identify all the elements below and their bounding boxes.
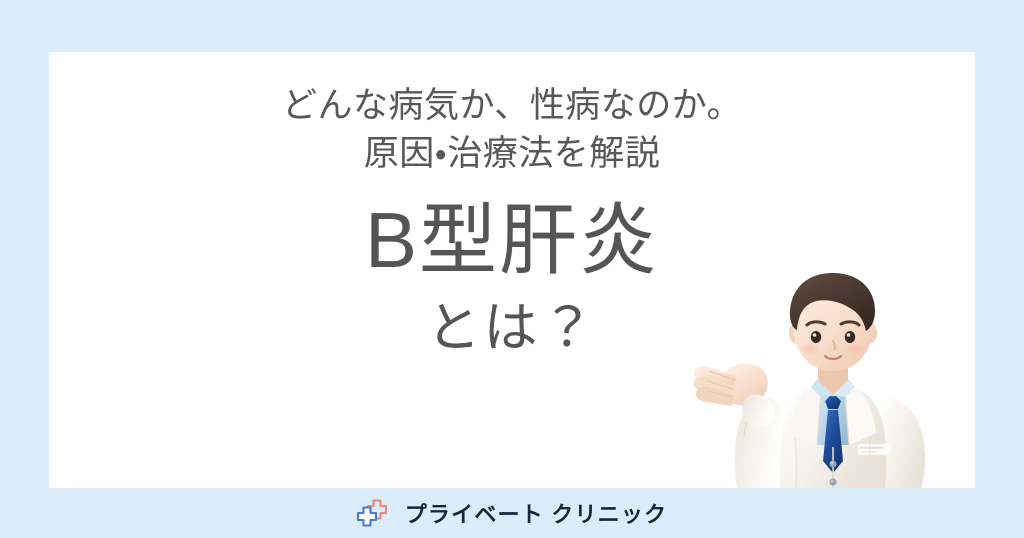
hero-subtitle-line-1: どんな病気か、性病なのか。 bbox=[49, 82, 975, 130]
hero-title-suffix: とは？ bbox=[49, 301, 975, 355]
hero-text-block: どんな病気か、性病なのか。 原因・治療法を解説 B型肝炎 とは？ bbox=[49, 52, 975, 355]
hero-subtitle-line-2: 原因・治療法を解説 bbox=[49, 130, 975, 178]
content-card: どんな病気か、性病なのか。 原因・治療法を解説 B型肝炎 とは？ bbox=[49, 52, 975, 488]
banner-frame: どんな病気か、性病なのか。 原因・治療法を解説 B型肝炎 とは？ bbox=[0, 0, 1024, 538]
brand-name: プライベート クリニック bbox=[405, 497, 668, 529]
double-cross-logo-icon bbox=[357, 498, 391, 528]
doctor-body bbox=[779, 385, 925, 488]
hero-title: B型肝炎 bbox=[49, 201, 975, 279]
footer-bar: プライベート クリニック bbox=[0, 488, 1024, 538]
doctor-hand bbox=[694, 363, 775, 427]
hero-subtitle: どんな病気か、性病なのか。 原因・治療法を解説 bbox=[49, 52, 975, 179]
